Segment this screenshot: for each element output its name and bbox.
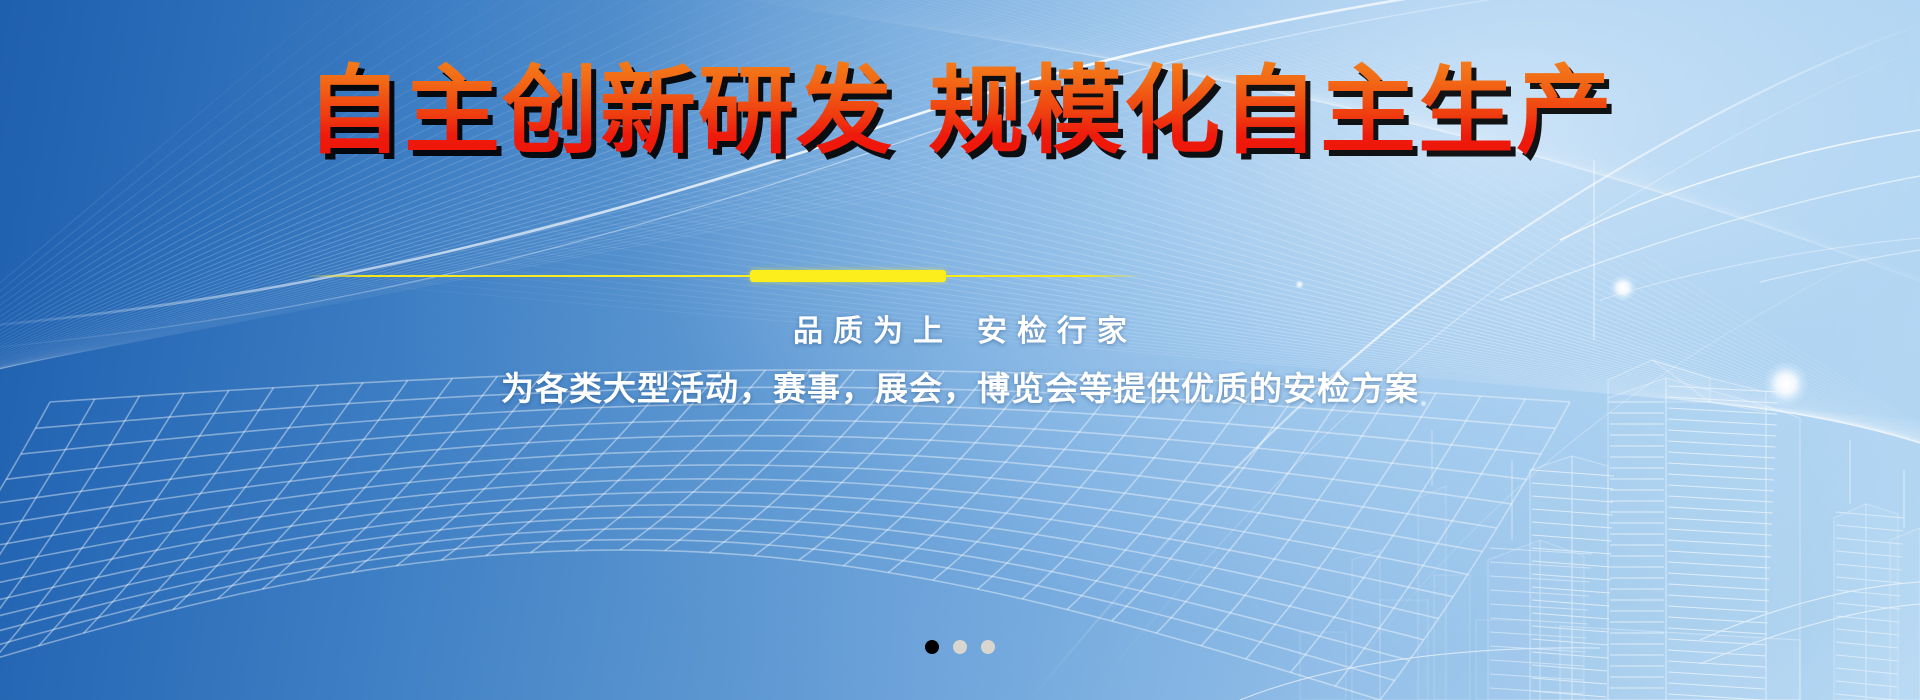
- subtitle: 品质为上安检行家: [0, 306, 1920, 350]
- carousel-dot-3[interactable]: [981, 640, 995, 654]
- carousel-next-button[interactable]: [1830, 0, 1920, 700]
- carousel-indicators: [0, 640, 1920, 654]
- subtitle-right: 安检行家: [977, 315, 1137, 348]
- headline-part-1: 自主创新研发: [306, 55, 894, 167]
- tagline: 为各类大型活动，赛事，展会，博览会等提供优质的安检方案: [0, 362, 1920, 410]
- subtitle-left: 品质为上: [793, 315, 953, 348]
- hero-banner: 自主创新研发规模化自主生产 品质为上安检行家 为各类大型活动，赛事，展会，博览会…: [0, 0, 1920, 700]
- carousel-prev-button[interactable]: [0, 0, 90, 700]
- divider-hairline: [305, 275, 1143, 277]
- headline: 自主创新研发规模化自主生产: [0, 56, 1920, 166]
- divider: [305, 270, 1143, 282]
- headline-part-2: 规模化自主生产: [928, 55, 1614, 167]
- divider-highlight-bar: [750, 270, 946, 282]
- carousel-dot-1[interactable]: [925, 640, 939, 654]
- carousel-dot-2[interactable]: [953, 640, 967, 654]
